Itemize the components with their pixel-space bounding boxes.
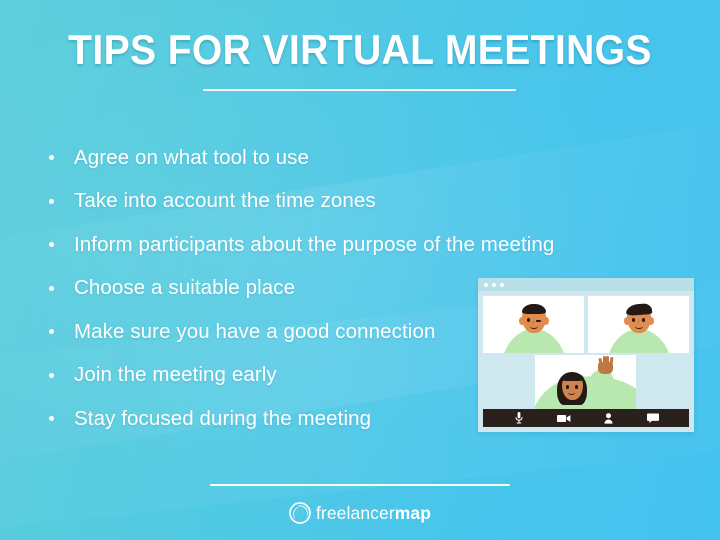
window-dot-icon [500,283,504,287]
footer-divider [210,484,510,486]
list-item: Take into account the time zones [44,180,624,224]
fringe-shape [561,373,584,381]
window-titlebar [478,278,694,291]
hair-shape [625,303,652,316]
bullet-dot-icon [49,329,54,334]
bullet-dot-icon [49,416,54,421]
video-call-toolbar [483,409,689,427]
list-item: Agree on what tool to use [44,136,624,180]
video-camera-icon[interactable] [557,412,571,424]
bullet-dot-icon [49,373,54,378]
bullet-dot-icon [49,242,54,247]
list-item: Inform participants about the purpose of… [44,223,624,267]
video-stage [478,291,694,404]
participant-tile-bottom-center [535,355,636,412]
palm-shape [598,362,613,374]
hair-shape [522,304,546,314]
mouth-shape [530,324,538,329]
eye-shape [527,318,530,322]
tip-text: Agree on what tool to use [74,146,309,170]
participant-head [624,305,654,336]
tip-text: Choose a suitable place [74,276,295,300]
tip-text: Take into account the time zones [74,189,376,213]
participant-head [555,372,589,405]
participant-figure [535,355,636,412]
eye-shape [575,385,578,389]
tip-text: Inform participants about the purpose of… [74,233,554,257]
title-divider [203,89,516,91]
video-call-window [478,278,694,432]
participant-tile-top-right [588,296,689,353]
eye-shape [632,318,635,322]
winking-eye-shape [536,320,541,322]
tip-text: Make sure you have a good connection [74,320,435,344]
mouth-shape [635,324,643,329]
circle-swirl-icon [289,502,311,524]
brand-wordmark: freelancermap [316,503,431,523]
bullet-dot-icon [49,155,54,160]
brand-name-bold: map [395,503,431,523]
bullet-dot-icon [49,199,54,204]
mouth-shape [568,390,575,395]
brand-name-light: freelancer [316,503,395,523]
brand-logo: freelancermap [0,502,720,524]
tip-text: Stay focused during the meeting [74,407,371,431]
tip-text: Join the meeting early [74,363,277,387]
window-dot-icon [484,283,488,287]
participants-icon[interactable] [601,412,615,424]
slide-canvas: TIPS FOR VIRTUAL MEETINGS Agree on what … [0,0,720,540]
microphone-icon[interactable] [512,412,526,424]
eye-shape [566,385,569,389]
page-title: TIPS FOR VIRTUAL MEETINGS [25,26,695,74]
participant-tile-top-left [483,296,584,353]
participant-head [519,305,549,336]
chat-bubble-icon[interactable] [646,412,660,424]
waving-hand-icon [597,356,615,374]
eye-shape [642,318,645,322]
window-dot-icon [492,283,496,287]
bullet-dot-icon [49,286,54,291]
